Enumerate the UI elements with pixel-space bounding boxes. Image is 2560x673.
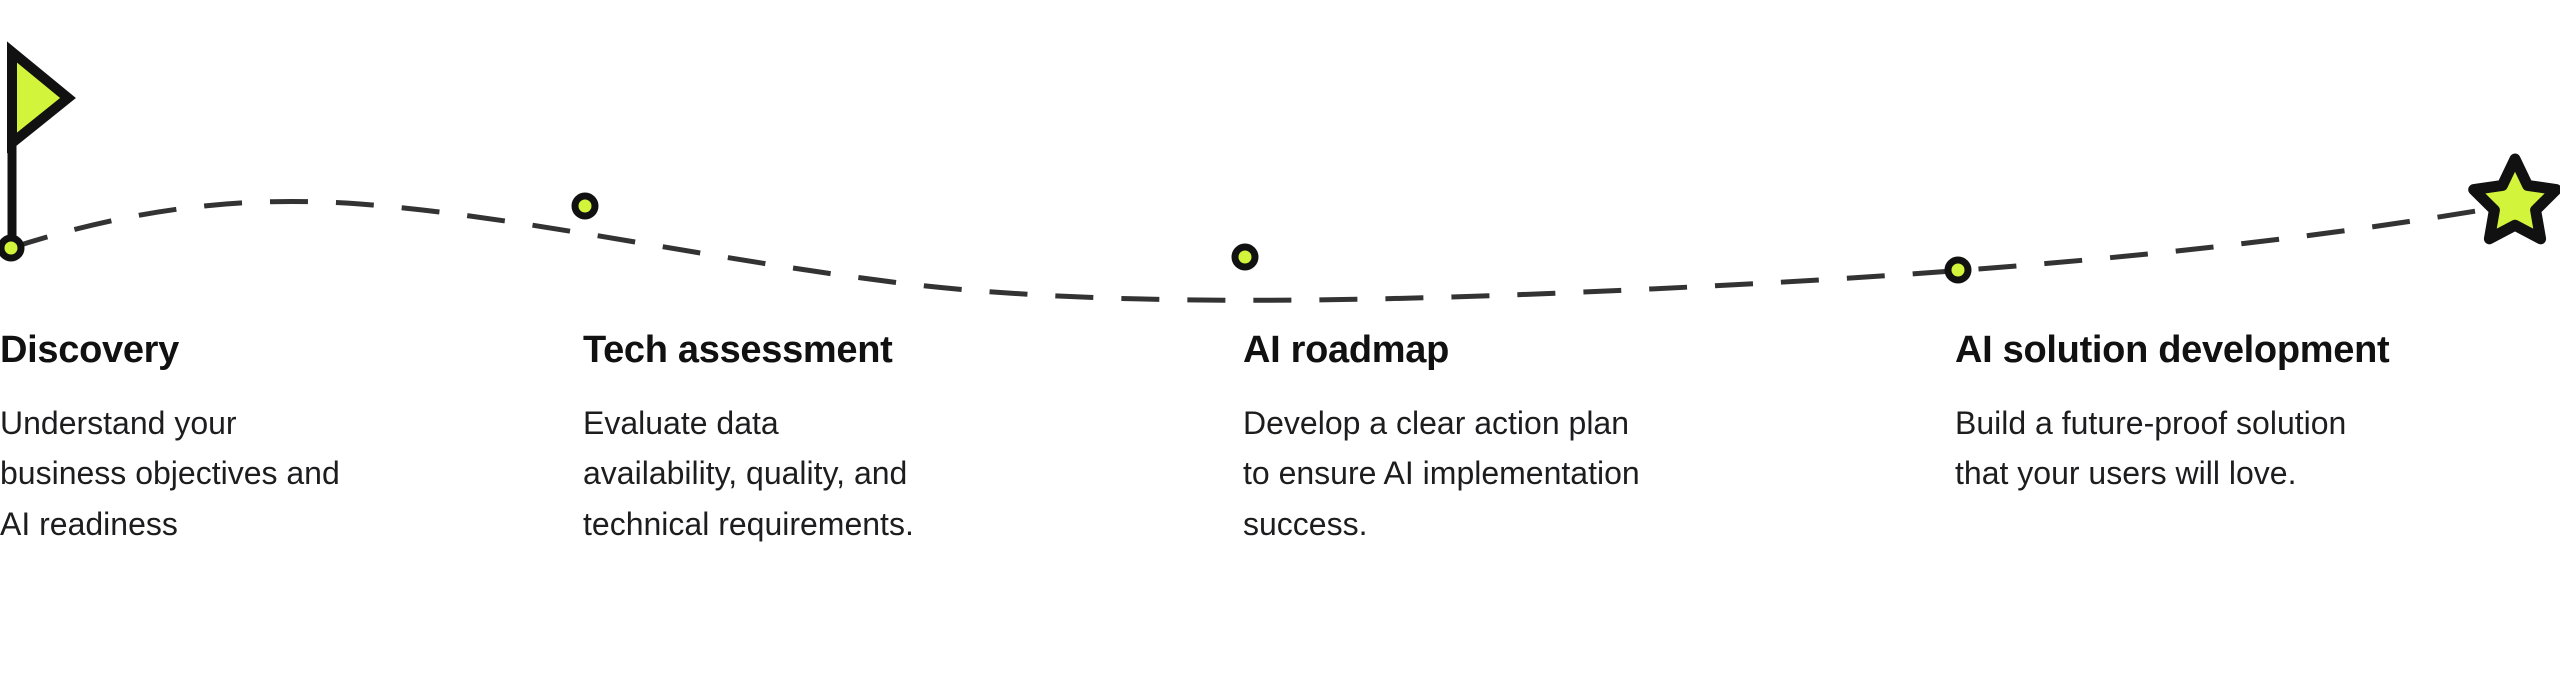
- step-card-ai-roadmap: AI roadmap Develop a clear action plan t…: [1243, 330, 1643, 549]
- step-title: Discovery: [0, 330, 340, 372]
- step-description: Build a future-proof solution that your …: [1955, 398, 2375, 499]
- step-card-discovery: Discovery Understand your business objec…: [0, 330, 340, 549]
- milestone-dot-icon[interactable]: [1, 238, 21, 258]
- milestone-dot-icon[interactable]: [1948, 260, 1968, 280]
- milestone-dot-icon[interactable]: [575, 196, 595, 216]
- milestone-dot-icon[interactable]: [1235, 247, 1255, 267]
- step-description: Develop a clear action plan to ensure AI…: [1243, 398, 1643, 550]
- step-title: Tech assessment: [583, 330, 923, 372]
- step-description: Evaluate data availability, quality, and…: [583, 398, 923, 550]
- roadmap-graphic: Discovery Understand your business objec…: [0, 0, 2560, 673]
- step-title: AI solution development: [1955, 330, 2375, 372]
- step-card-tech-assessment: Tech assessment Evaluate data availabili…: [583, 330, 923, 549]
- step-title: AI roadmap: [1243, 330, 1643, 372]
- steps-row: Discovery Understand your business objec…: [0, 330, 2560, 673]
- flag-icon: [12, 52, 68, 143]
- step-description: Understand your business objectives and …: [0, 398, 340, 550]
- star-icon: [2474, 159, 2557, 239]
- journey-path-graphic: [0, 0, 2560, 330]
- step-card-ai-solution-development: AI solution development Build a future-p…: [1955, 330, 2375, 499]
